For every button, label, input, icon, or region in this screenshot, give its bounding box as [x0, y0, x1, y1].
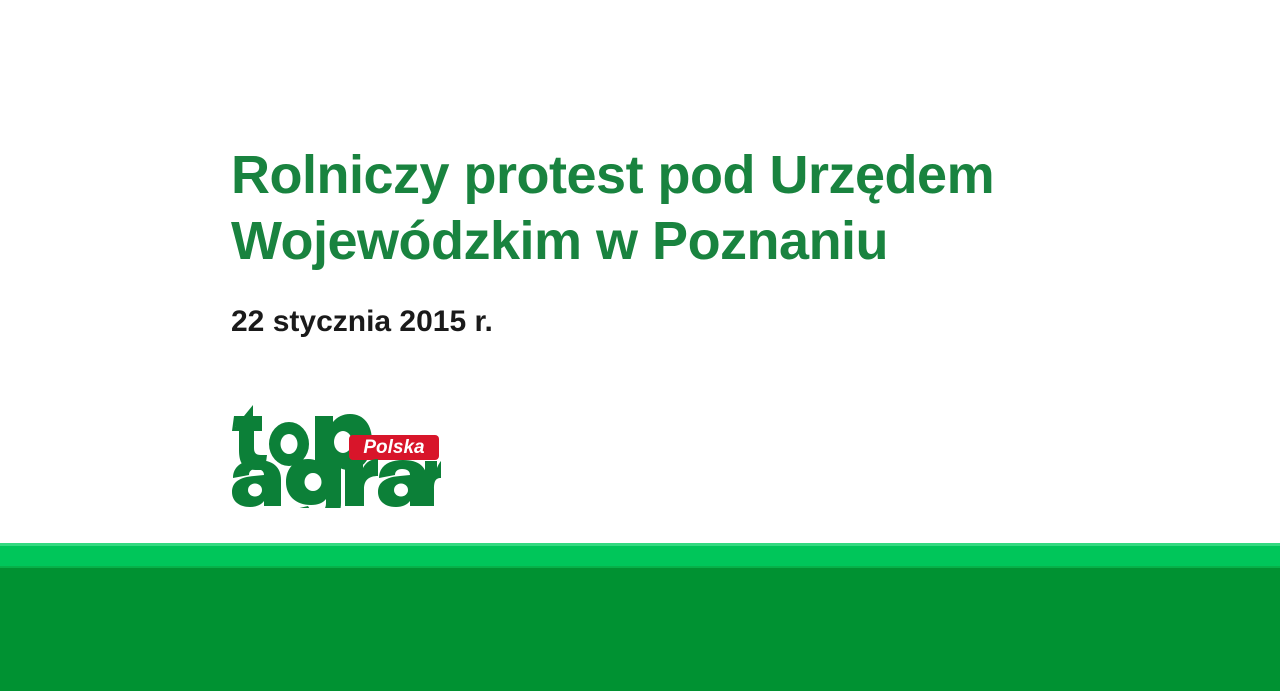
slide-date: 22 stycznia 2015 r.: [231, 274, 1131, 341]
top-agrar-polska-logo: Polska: [231, 400, 441, 508]
slide-content: Rolniczy protest pod Urzędem Wojewódzkim…: [231, 142, 1131, 341]
bottom-band-main: [0, 568, 1280, 691]
bottom-band-bright: [0, 543, 1280, 568]
logo-word-agrar: [232, 459, 441, 508]
logo-icon: Polska: [231, 400, 441, 508]
slide-canvas: Rolniczy protest pod Urzędem Wojewódzkim…: [0, 0, 1280, 691]
logo-badge-label: Polska: [363, 437, 425, 458]
bottom-band-highlight: [0, 543, 1280, 546]
page-title: Rolniczy protest pod Urzędem Wojewódzkim…: [231, 142, 1061, 274]
logo-badge-polska: Polska: [349, 435, 439, 460]
